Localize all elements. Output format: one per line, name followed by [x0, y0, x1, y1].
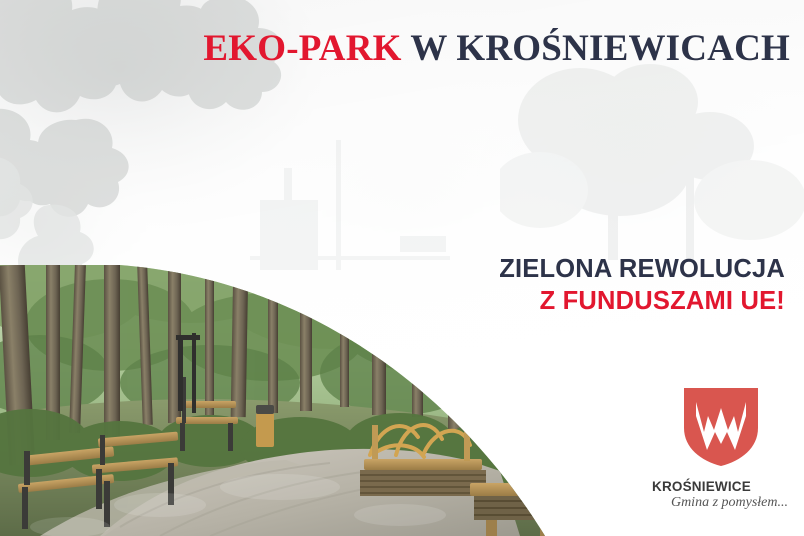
title-part-red: EKO-PARK	[203, 28, 401, 69]
krosniewice-logo: KROŚNIEWICE Gmina z pomysłem...	[648, 386, 794, 518]
background-trees-watermark	[500, 60, 804, 270]
background-building-watermark	[250, 140, 450, 270]
shield-icon	[681, 386, 761, 468]
eko-park-banner: EKO-PARK W KROŚNIEWICACH ZIELONA REWOLUC…	[0, 0, 804, 536]
logo-tagline: Gmina z pomysłem...	[648, 495, 794, 511]
page-title: EKO-PARK W KROŚNIEWICACH	[0, 26, 790, 72]
park-photo-clip	[0, 265, 560, 536]
park-photo	[0, 265, 560, 536]
title-part-navy: W KROŚNIEWICACH	[402, 28, 790, 69]
logo-municipality-name: KROŚNIEWICE	[648, 479, 794, 494]
